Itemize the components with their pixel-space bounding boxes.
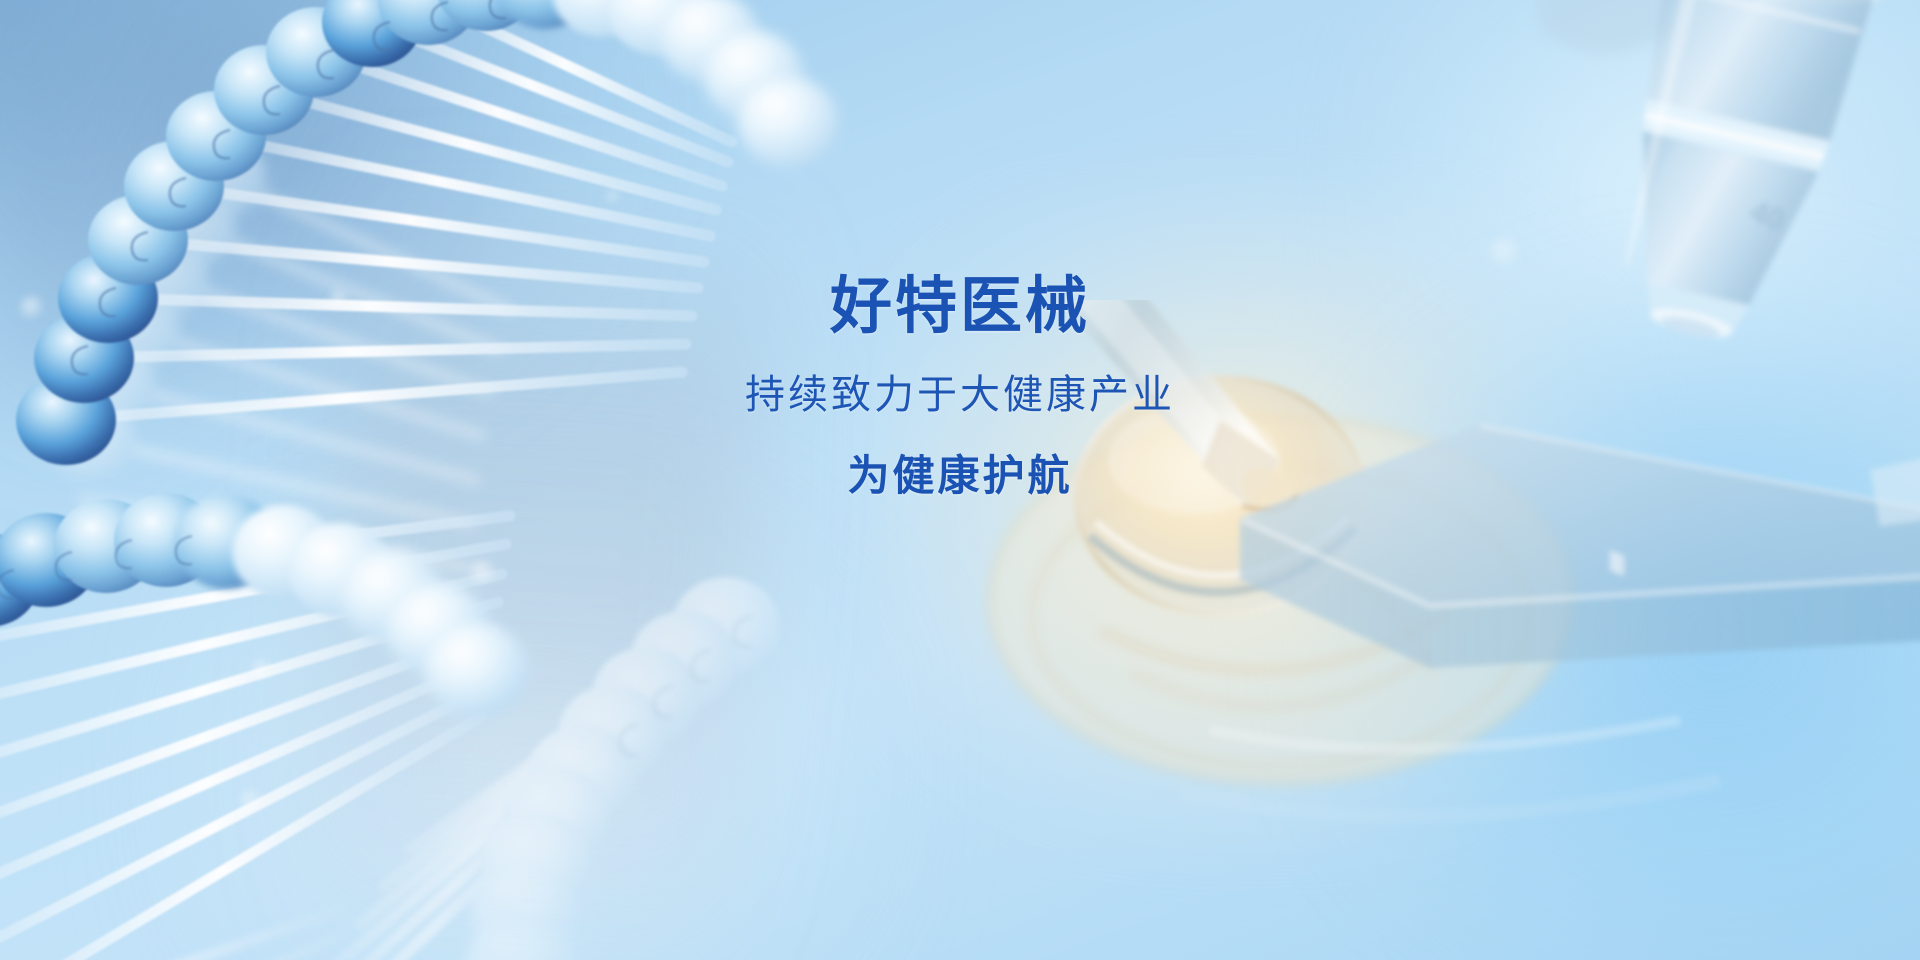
hero-text-block: 好特医械 持续致力于大健康产业 为健康护航: [0, 272, 1920, 502]
company-tagline: 持续致力于大健康产业: [0, 371, 1920, 419]
hero-banner: 40: [0, 0, 1920, 960]
company-name-title: 好特医械: [0, 272, 1920, 341]
company-slogan: 为健康护航: [0, 451, 1920, 501]
